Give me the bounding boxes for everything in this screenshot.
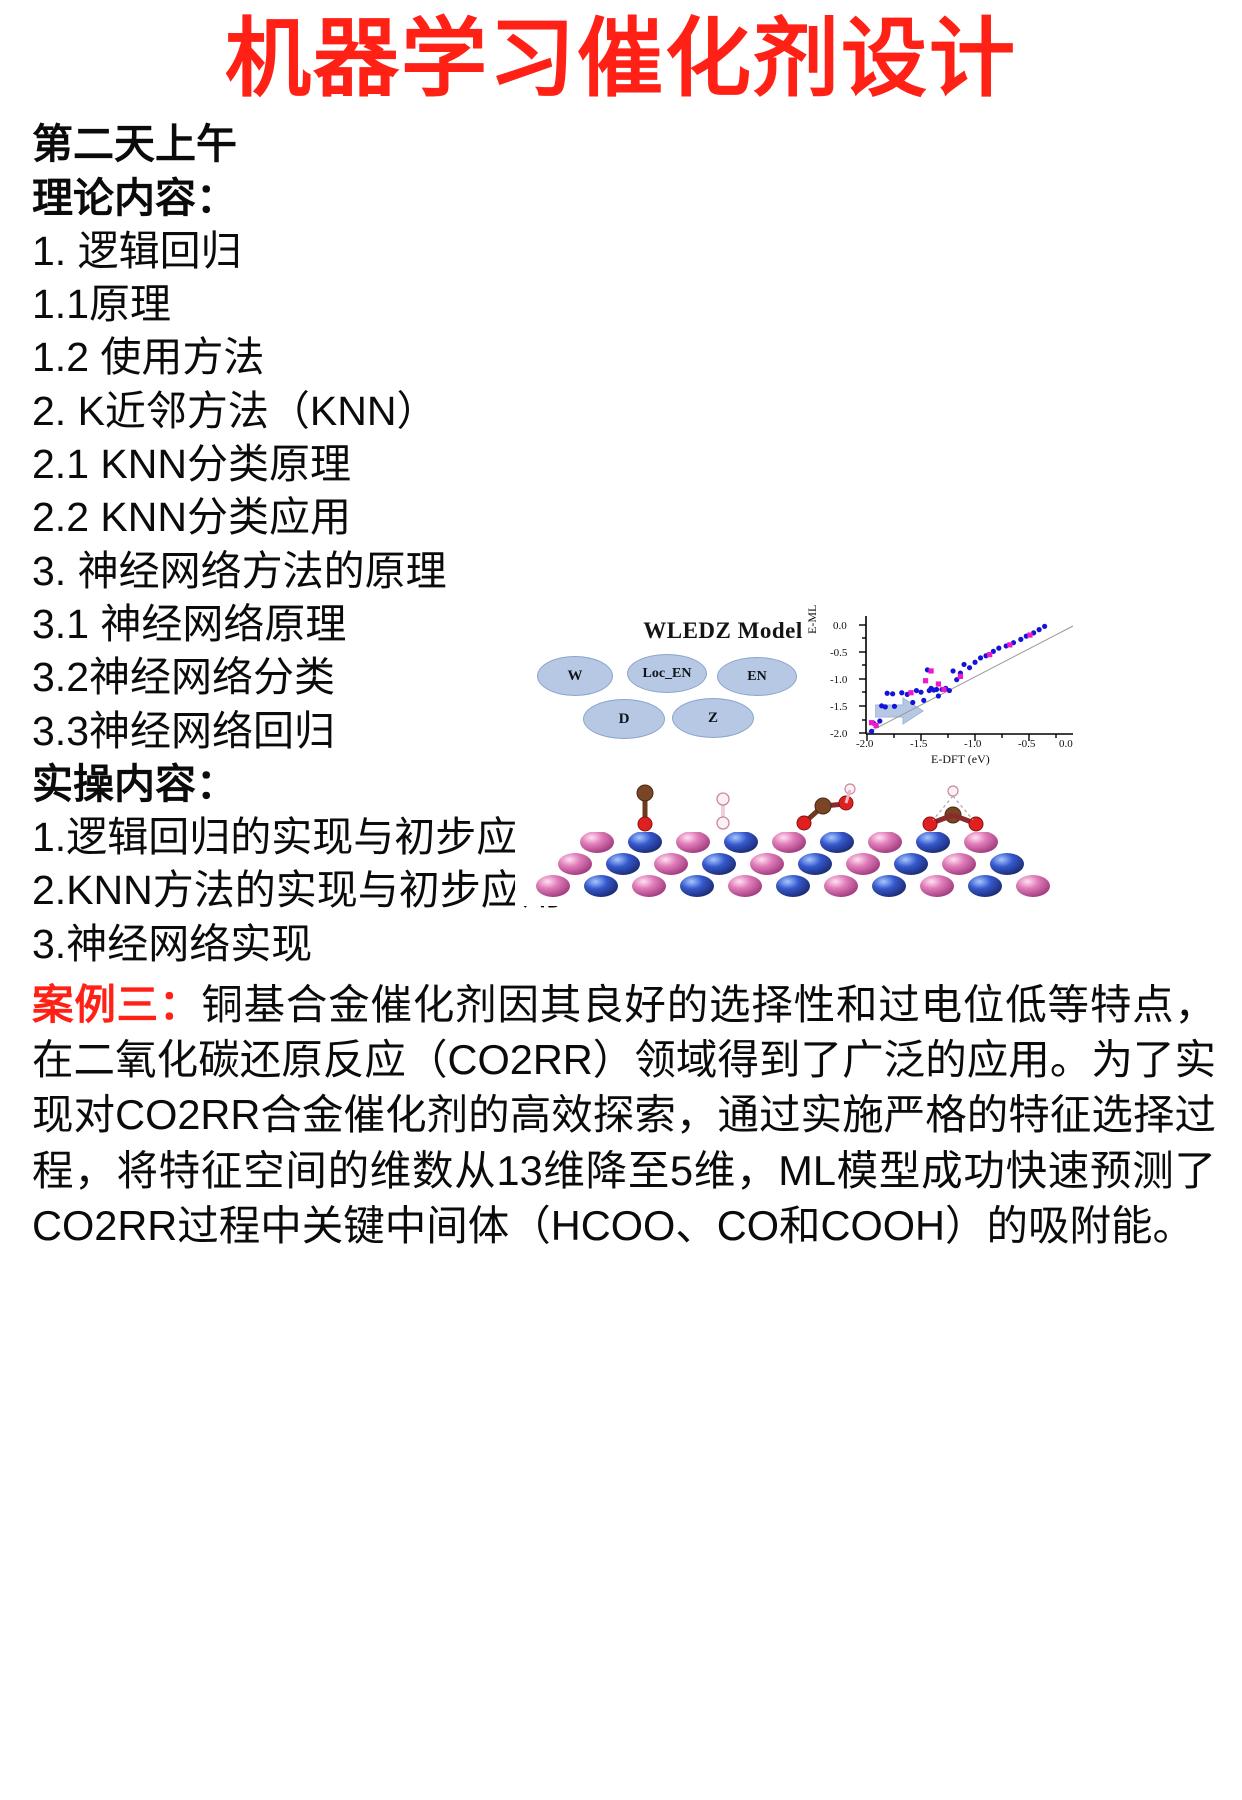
data-point [910,700,915,705]
molecule-cooh [797,784,855,830]
data-point [921,698,926,703]
theory-item-1-2: 1.2 使用方法 [32,331,1216,384]
feature-label-locen: Loc_EN [643,666,692,682]
feature-ellipse-en: EN [717,657,797,696]
data-point [972,660,977,665]
practice-item-3: 3.神经网络实现 [32,918,1216,971]
data-point [899,690,904,695]
data-point [914,688,919,693]
theory-item-2-1: 2.1 KNN分类原理 [32,438,1216,491]
wledz-figure: WLEDZ Model W Loc_EN EN D Z [515,604,1075,906]
plot-canvas [811,610,1073,755]
slide-page: 机器学习催化剂设计 第二天上午 理论内容： 1. 逻辑回归 1.1原理 1.2 … [0,0,1242,1800]
y-tick-0: 0.0 [833,620,847,632]
data-point [1018,637,1023,642]
data-point [890,691,895,696]
data-point [941,687,946,692]
data-point [869,729,874,734]
data-point [947,688,952,693]
data-point [869,720,874,725]
data-point [950,668,955,673]
theory-item-3: 3. 神经网络方法的原理 [32,545,1216,598]
molecule-h2 [717,793,729,829]
data-point [987,652,992,657]
y-tick-2: -1.0 [830,674,847,686]
parity-scatter-plot: E-ML model (eV) E-DFT (eV) 0.0 -0.5 -1.0… [811,610,1073,770]
data-point [978,655,983,660]
x-tick-3: -0.5 [1018,738,1035,750]
theory-item-2-2: 2.2 KNN分类应用 [32,491,1216,544]
y-tick-1: -0.5 [830,647,847,659]
data-point [1027,632,1032,637]
feature-label-z: Z [708,710,718,727]
feature-ellipse-w: W [537,656,613,696]
data-point [1007,642,1012,647]
data-point [996,646,1001,651]
metal-slab [515,832,1075,906]
subtitle: 第二天上午 [32,118,1216,171]
data-point [908,690,913,695]
page-title: 机器学习催化剂设计 [0,0,1242,104]
case-paragraph: 案例三：铜基合金催化剂因其良好的选择性和过电位低等特点，在二氧化碳还原反应（CO… [32,977,1216,1253]
theory-item-2: 2. K近邻方法（KNN） [32,385,1216,438]
y-tick-4: -2.0 [830,728,847,740]
data-point [936,693,941,698]
data-point [918,690,923,695]
data-point [1037,627,1042,632]
data-point [1042,624,1047,629]
data-point [934,687,939,692]
data-point [923,678,928,683]
feature-label-en: EN [747,669,766,685]
feature-ellipse-d: D [583,699,665,739]
data-point [892,704,897,709]
data-point [885,691,890,696]
x-tick-0: -2.0 [856,738,873,750]
case-label: 案例三： [32,981,201,1028]
theory-item-1: 1. 逻辑回归 [32,225,1216,278]
x-tick-2: -1.0 [964,738,981,750]
feature-label-d: D [619,711,630,728]
x-tick-1: -1.5 [910,738,927,750]
data-point [883,704,888,709]
case-text: 铜基合金催化剂因其良好的选择性和过电位低等特点，在二氧化碳还原反应（CO2RR）… [32,981,1216,1249]
theory-item-1-1: 1.1原理 [32,278,1216,331]
feature-label-w: W [568,668,583,685]
x-tick-4: 0.0 [1059,738,1073,750]
molecule-co [637,785,653,831]
y-tick-3: -1.5 [830,701,847,713]
data-point [967,665,972,670]
theory-heading: 理论内容： [32,172,1216,225]
feature-ellipse-z: Z [672,698,754,738]
data-point [928,668,933,673]
data-point [874,723,879,728]
feature-ellipse-locen: Loc_EN [627,654,707,693]
data-point [936,681,941,686]
x-axis-label: E-DFT (eV) [931,752,990,767]
data-point [961,662,966,667]
molecule-hcoo [923,786,983,831]
y-axis-label: E-ML model (eV) [805,604,820,634]
data-point [958,674,963,679]
